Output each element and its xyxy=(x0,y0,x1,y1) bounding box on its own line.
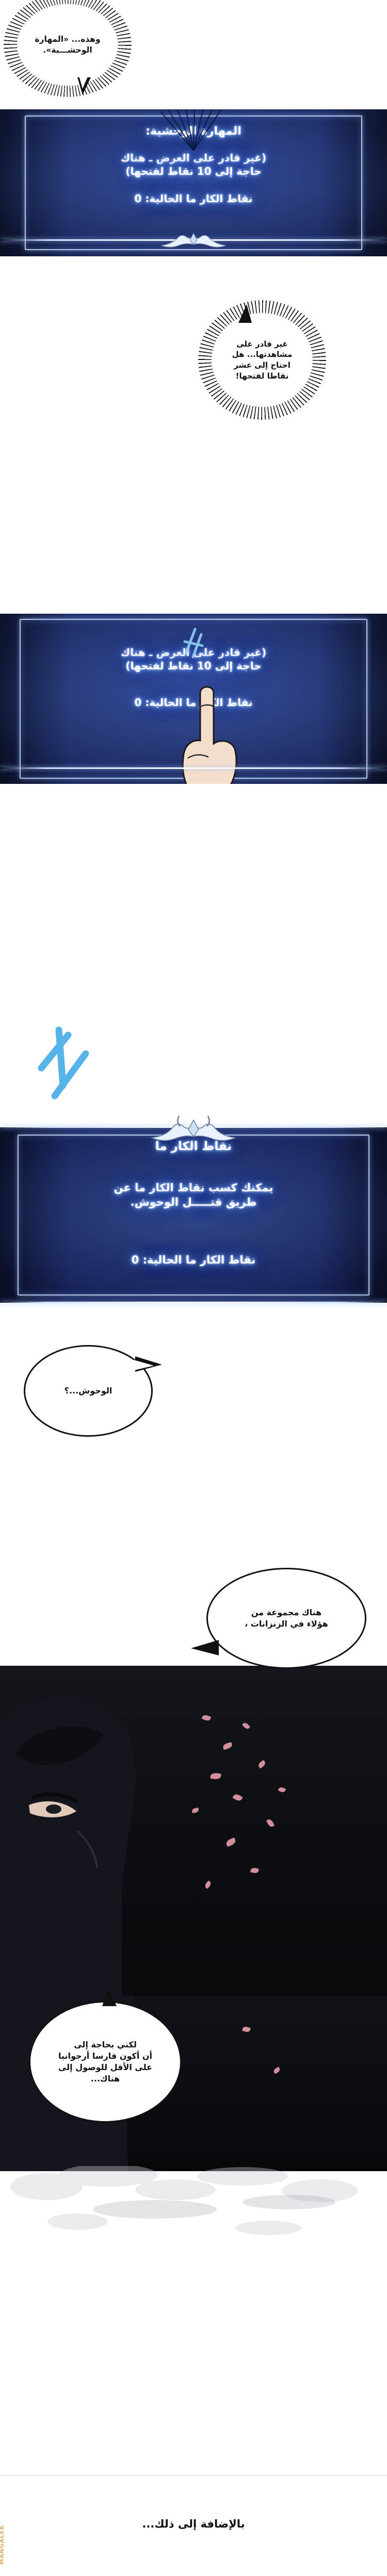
speech-bubble-1-inner: وهذه... «المهارة الوحشـــية». xyxy=(17,6,118,84)
speech-bubble-3-tail-fill xyxy=(132,1359,154,1371)
crown-ornament-icon xyxy=(142,1113,245,1144)
petal-icon xyxy=(266,1818,275,1828)
illustration-panel xyxy=(0,1666,387,1996)
sparkle-icon xyxy=(34,1024,101,1101)
petal-icon xyxy=(273,2066,281,2074)
system-panel-3-bottom-divider xyxy=(0,1302,387,1303)
system-panel-2-divider xyxy=(0,767,387,769)
speech-bubble-5: لكني بحاجة إلى أن أكون فارسا أرجوانيا عل… xyxy=(29,2001,182,2123)
webtoon-page: وهذه... «المهارة الوحشـــية». المهارة ال… xyxy=(0,0,387,2576)
system-panel-2: (غير قادر على العرض ـ هناك حاجة إلى 10 ن… xyxy=(0,614,387,784)
system-panel-3: نقاط الكار ما يمكنك كسب نقاط الكار ما عن… xyxy=(0,1127,387,1303)
speech-bubble-4-text: هناك مجموعة من هؤلاء في الزنزانات ، xyxy=(237,1607,335,1630)
speech-bubble-3-text: الوحوش...؟ xyxy=(57,1385,120,1397)
speech-bubble-5-text: لكني بحاجة إلى أن أكون فارسا أرجوانيا عل… xyxy=(51,2039,159,2085)
petal-icon xyxy=(225,1837,236,1847)
speech-bubble-4: هناك مجموعة من هؤلاء في الزنزانات ، xyxy=(206,1568,366,1669)
speech-bubble-2: غير قادر على مشاهدتها... هل احتاج إلى عش… xyxy=(212,314,313,406)
system-panel-3-footer: نقاط الكار ما الحالية: 0 xyxy=(0,1253,387,1268)
petal-icon xyxy=(210,1773,221,1780)
petal-icon xyxy=(242,1721,250,1730)
ray-burst-icon xyxy=(111,109,276,154)
sparkle-icon xyxy=(182,623,205,663)
petal-icon xyxy=(204,1880,212,1889)
speech-bubble-4-tail xyxy=(191,1640,219,1655)
speech-bubble-1-tail-fill xyxy=(78,74,89,89)
crown-ornament-icon xyxy=(155,229,232,250)
character-portrait xyxy=(0,1676,170,1996)
smoke-texture-icon xyxy=(0,2166,387,2336)
petal-icon xyxy=(242,2026,251,2033)
speech-bubble-5-tail xyxy=(102,1989,117,2006)
system-panel-1-body: (غير قادر على العرض ـ هناك حاجة إلى 10 ن… xyxy=(0,151,387,178)
watermark-text: MANGALEK xyxy=(0,2525,5,2565)
petal-icon xyxy=(232,1793,243,1802)
petal-icon xyxy=(202,1714,212,1721)
petal-icon xyxy=(278,1786,286,1794)
system-panel-1-footer: نقاط الكار ما الحالية: 0 xyxy=(0,192,387,205)
speech-bubble-2-tail xyxy=(238,304,252,323)
speech-bubble-1-text: وهذه... «المهارة الوحشـــية». xyxy=(27,34,107,56)
bottom-divider xyxy=(0,2475,387,2476)
speech-bubble-2-text: غير قادر على مشاهدتها... هل احتاج إلى عش… xyxy=(225,339,300,382)
system-panel-1: المهارة الوحشية: (غير قادر على العرض ـ ه… xyxy=(0,109,387,256)
petal-icon xyxy=(250,1867,259,1874)
speech-bubble-3: الوحوش...؟ xyxy=(24,1345,153,1437)
speech-bubble-1: وهذه... «المهارة الوحشـــية». xyxy=(17,6,118,84)
petal-icon xyxy=(191,1808,199,1813)
system-panel-3-body: يمكنك كسب نقاط الكار ما عن طريق قتـــــل… xyxy=(0,1181,387,1209)
petal-icon xyxy=(257,1760,266,1769)
bottom-narration: بالإضافة إلى ذلك... xyxy=(0,2518,387,2530)
speech-bubble-2-inner: غير قادر على مشاهدتها... هل احتاج إلى عش… xyxy=(212,314,313,406)
petal-icon xyxy=(222,1742,233,1750)
